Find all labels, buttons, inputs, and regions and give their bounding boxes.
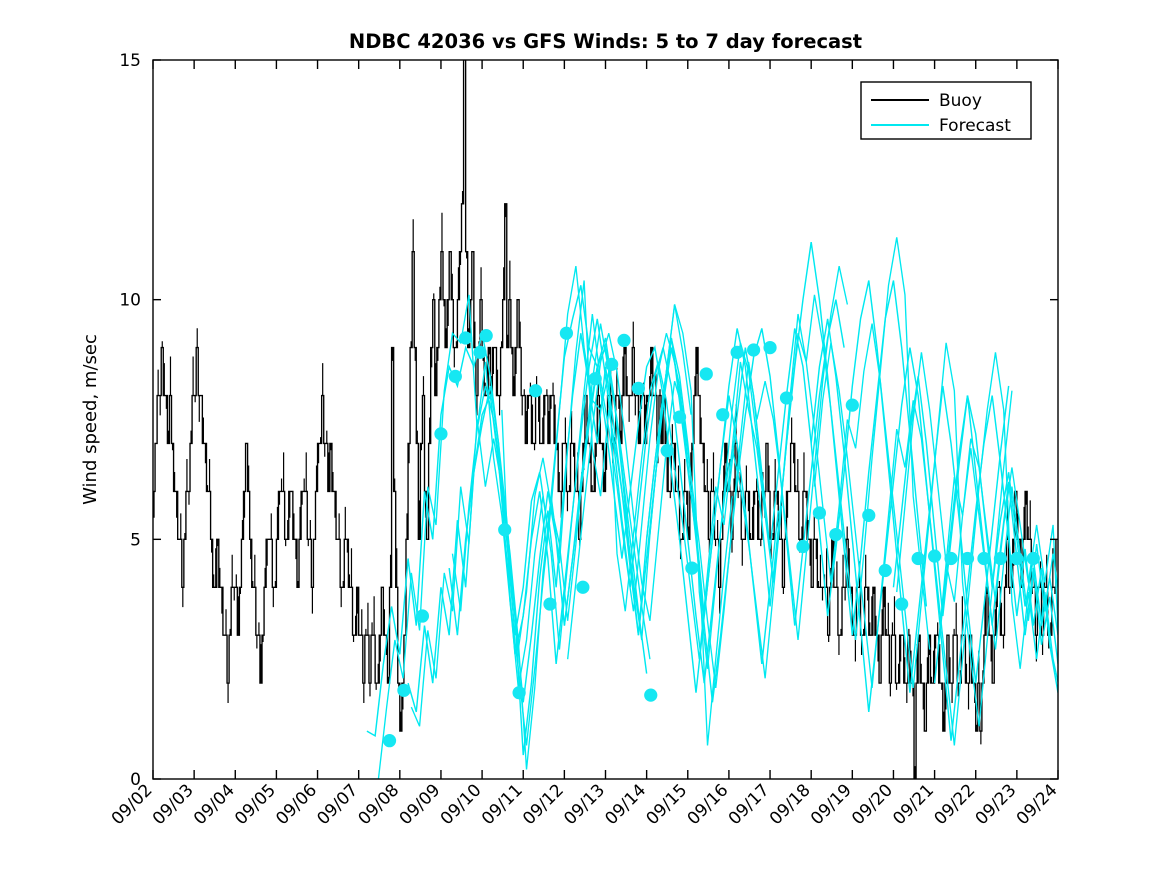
chart-title: NDBC 42036 vs GFS Winds: 5 to 7 day fore…: [349, 30, 862, 53]
x-tick-label: 09/11: [478, 780, 527, 829]
forecast-marker: [644, 689, 657, 702]
forecast-marker: [862, 509, 875, 522]
x-tick-label: 09/07: [313, 780, 362, 829]
forecast-marker: [700, 367, 713, 380]
forecast-marker: [829, 528, 842, 541]
x-tick-label: 09/05: [231, 780, 280, 829]
forecast-marker: [895, 597, 908, 610]
forecast-marker: [589, 372, 602, 385]
forecast-marker: [434, 427, 447, 440]
x-tick-label: 09/08: [355, 780, 404, 829]
forecast-marker: [961, 552, 974, 565]
forecast-marker: [513, 686, 526, 699]
x-tick-label: 09/12: [519, 780, 568, 829]
forecast-marker: [685, 561, 698, 574]
x-tick-label: 09/06: [272, 780, 321, 829]
forecast-marker: [529, 384, 542, 397]
forecast-marker: [383, 734, 396, 747]
forecast-marker: [994, 552, 1007, 565]
forecast-marker: [617, 334, 630, 347]
forecast-marker: [473, 346, 486, 359]
forecast-marker: [716, 408, 729, 421]
y-tick-label: 15: [119, 51, 141, 71]
forecast-marker: [977, 552, 990, 565]
forecast-marker: [912, 552, 925, 565]
forecast-marker: [731, 346, 744, 359]
forecast-marker: [928, 550, 941, 563]
forecast-marker: [673, 411, 686, 424]
x-tick-label: 09/17: [725, 780, 774, 829]
figure-canvas: 051015 09/0209/0309/0409/0509/0609/0709/…: [0, 0, 1167, 875]
x-tick-label: 09/14: [601, 780, 650, 829]
forecast-marker: [813, 506, 826, 519]
x-tick-label: 09/04: [190, 780, 239, 829]
x-tick-label: 09/22: [930, 780, 979, 829]
x-tick-label: 09/19: [807, 780, 856, 829]
legend-label-buoy: Buoy: [939, 91, 982, 111]
x-tick-label: 09/03: [149, 780, 198, 829]
forecast-marker: [576, 581, 589, 594]
forecast-marker: [543, 597, 556, 610]
forecast-marker: [1027, 552, 1040, 565]
x-tick-label: 09/23: [972, 780, 1021, 829]
wind-speed-chart: 051015 09/0209/0309/0409/0509/0609/0709/…: [0, 0, 1167, 875]
x-tick-label: 09/18: [766, 780, 815, 829]
forecast-marker: [661, 444, 674, 457]
forecast-marker: [846, 399, 859, 412]
forecast-marker: [416, 609, 429, 622]
forecast-marker: [459, 331, 472, 344]
forecast-marker: [1010, 552, 1023, 565]
forecast-marker: [944, 552, 957, 565]
y-axis-label: Wind speed, m/sec: [80, 334, 101, 505]
legend-label-forecast: Forecast: [939, 116, 1011, 136]
y-tick-label: 10: [119, 291, 141, 311]
x-tick-label: 09/16: [684, 780, 733, 829]
chart-legend[interactable]: BuoyForecast: [861, 82, 1031, 139]
forecast-marker: [605, 358, 618, 371]
forecast-marker: [480, 329, 493, 342]
x-tick-label: 09/21: [889, 780, 938, 829]
x-tick-label: 09/24: [1013, 780, 1062, 829]
forecast-marker: [498, 523, 511, 536]
forecast-marker: [397, 684, 410, 697]
forecast-marker: [560, 327, 573, 340]
forecast-marker: [449, 370, 462, 383]
x-tick-label: 09/13: [560, 780, 609, 829]
forecast-marker: [763, 341, 776, 354]
forecast-marker: [747, 343, 760, 356]
forecast-marker: [632, 382, 645, 395]
y-tick-label: 5: [130, 530, 141, 550]
x-tick-label: 09/09: [396, 780, 445, 829]
forecast-marker: [796, 540, 809, 553]
forecast-marker: [780, 391, 793, 404]
forecast-marker: [879, 564, 892, 577]
x-tick-label: 09/15: [643, 780, 692, 829]
x-tick-label: 09/20: [848, 780, 897, 829]
x-tick-label: 09/10: [437, 780, 486, 829]
